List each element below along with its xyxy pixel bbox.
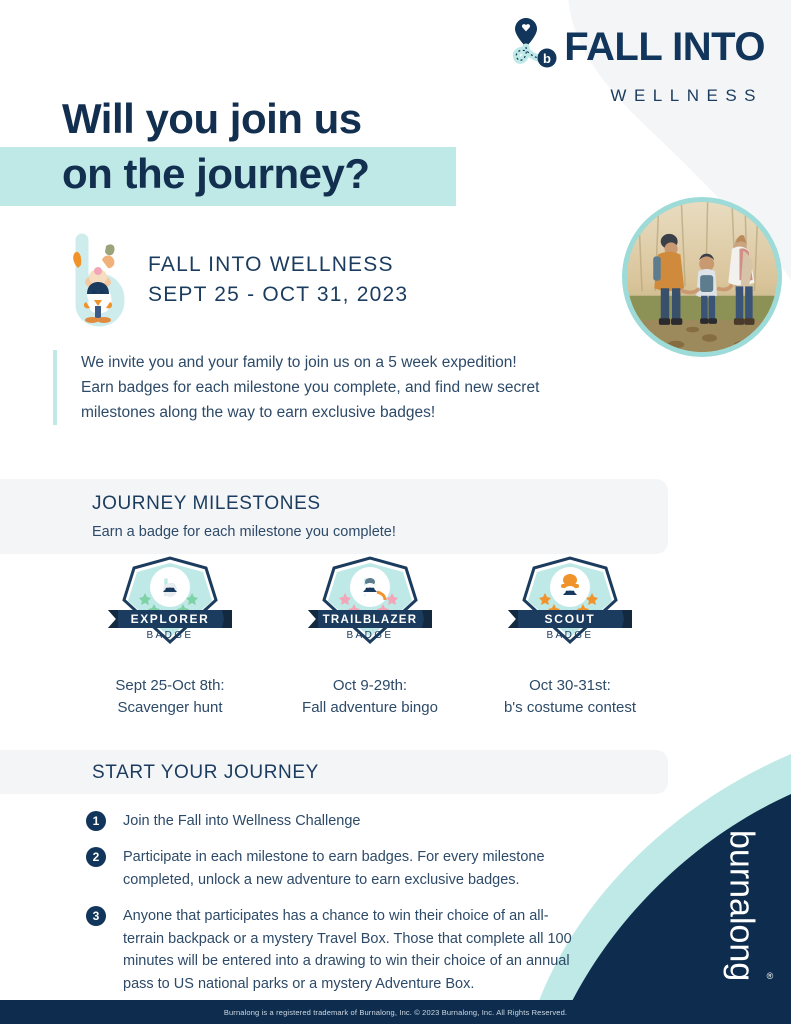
start-your-journey-header: START YOUR JOURNEY: [0, 750, 668, 794]
footer-bar: Burnalong is a registered trademark of B…: [0, 1000, 791, 1024]
list-item: 3 Anyone that participates has a chance …: [86, 905, 586, 995]
logo-subtitle: WELLNESS: [610, 86, 763, 106]
burnalong-b-mascot-icon: [68, 232, 128, 328]
burnalong-vertical-wordmark: burnalong ®: [722, 830, 775, 986]
section-title-start: START YOUR JOURNEY: [92, 762, 668, 784]
start-steps-list: 1 Join the Fall into Wellness Challenge …: [86, 810, 586, 1009]
badge-ribbon-label: TRAILBLAZER: [323, 614, 418, 626]
badge-sub-label: BADGE: [346, 630, 393, 641]
intro-line-1: We invite you and your family to join us…: [81, 350, 613, 375]
logo-title: FALL INTO: [564, 27, 765, 67]
event-date-block: FALL INTO WELLNESS SEPT 25 - OCT 31, 202…: [68, 232, 408, 328]
badge-activity-explorer: Scavenger hunt: [70, 697, 270, 719]
list-item: 2 Participate in each milestone to earn …: [86, 846, 586, 891]
section-title-milestones: JOURNEY MILESTONES: [92, 493, 668, 515]
step-number-2: 2: [86, 847, 106, 867]
headline-highlight-band: on the journey?: [0, 147, 456, 205]
svg-text:b: b: [543, 51, 551, 66]
headline-line-1: Will you join us: [0, 95, 520, 143]
badge-activity-scout: b's costume contest: [470, 697, 670, 719]
badge-date-scout: Oct 30-31st:: [470, 675, 670, 697]
family-hiking-photo: [622, 197, 782, 357]
photo-illustration: [627, 202, 777, 352]
badge-ribbon-label: EXPLORER: [131, 612, 210, 626]
event-title: FALL INTO WELLNESS: [148, 250, 408, 280]
step-text-2: Participate in each milestone to earn ba…: [123, 846, 586, 891]
flyer-page: b FALL INTO WELLNESS Will you join us on…: [0, 0, 791, 1024]
intro-paragraph: We invite you and your family to join us…: [53, 350, 613, 425]
step-number-1: 1: [86, 811, 106, 831]
badge-scout: b SCOUT BADGE Oct 30-31st:: [470, 556, 670, 719]
intro-line-3: milestones along the way to earn exclusi…: [81, 400, 613, 425]
fall-into-wellness-logo: b FALL INTO WELLNESS: [506, 14, 765, 106]
badge-activity-trailblazer: Fall adventure bingo: [270, 697, 470, 719]
burnalong-wordmark-text: burnalong: [722, 830, 761, 981]
headline-line-2: on the journey?: [62, 150, 370, 197]
step-text-3: Anyone that participates has a chance to…: [123, 905, 586, 995]
badge-date-explorer: Sept 25-Oct 8th:: [70, 675, 270, 697]
badge-date-trailblazer: Oct 9-29th:: [270, 675, 470, 697]
badge-explorer: b EXPLORER BADGE Sept 25-Oct 8th: Scav: [70, 556, 270, 719]
scout-badge-icon: b SCOUT BADGE: [504, 556, 636, 658]
event-dates: SEPT 25 - OCT 31, 2023: [148, 280, 408, 310]
registered-mark: ®: [765, 971, 775, 981]
badge-ribbon-label: SCOUT: [545, 612, 596, 626]
milestone-badges-row: b EXPLORER BADGE Sept 25-Oct 8th: Scav: [70, 556, 670, 719]
badge-trailblazer: b TRAILBLAZER BADGE Oct 9-29: [270, 556, 470, 719]
section-subtitle-milestones: Earn a badge for each milestone you comp…: [92, 524, 668, 540]
explorer-badge-icon: b EXPLORER BADGE: [104, 556, 236, 658]
intro-line-2: Earn badges for each milestone you compl…: [81, 375, 613, 400]
step-number-3: 3: [86, 906, 106, 926]
map-pin-path-b-icon: b: [506, 14, 560, 80]
badge-sub-label: BADGE: [146, 630, 193, 641]
trailblazer-badge-icon: b TRAILBLAZER BADGE: [304, 556, 436, 658]
step-text-1: Join the Fall into Wellness Challenge: [123, 810, 361, 832]
journey-milestones-header: JOURNEY MILESTONES Earn a badge for each…: [0, 479, 668, 554]
badge-sub-label: BADGE: [546, 630, 593, 641]
list-item: 1 Join the Fall into Wellness Challenge: [86, 810, 586, 832]
page-title: Will you join us on the journey?: [0, 95, 520, 206]
footer-legal-text: Burnalong is a registered trademark of B…: [224, 1008, 567, 1017]
